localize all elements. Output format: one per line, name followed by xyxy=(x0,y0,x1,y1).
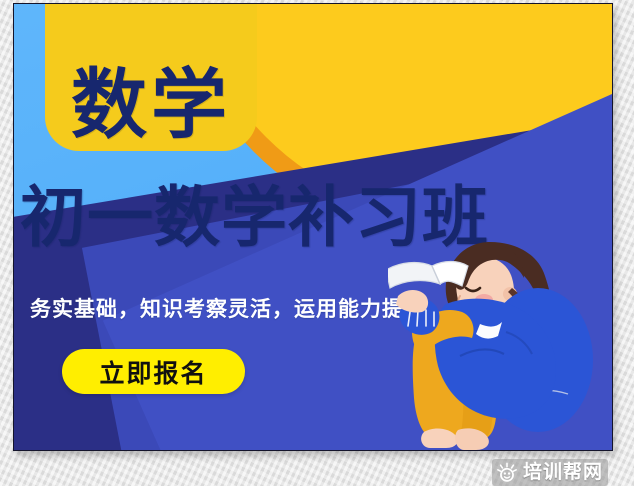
poster-subtitle: 务实基础，知识考察灵活，运用能力提升 xyxy=(30,293,426,323)
enroll-now-button[interactable]: 立即报名 xyxy=(62,349,245,394)
poster-outer-frame: 数学 初一数学补习班 务实基础，知识考察灵活，运用能力提升 立即报名 xyxy=(0,0,634,486)
subject-badge-label: 数学 xyxy=(71,67,231,143)
watermark-label: 培训帮网 xyxy=(523,463,603,482)
seated-girl-reading-icon xyxy=(388,240,613,451)
sun-face-icon xyxy=(496,462,518,484)
hand xyxy=(396,290,428,313)
enroll-now-button-label: 立即报名 xyxy=(99,354,207,390)
site-watermark: 培训帮网 xyxy=(492,459,608,486)
course-promo-poster: 数学 初一数学补习班 务实基础，知识考察灵活，运用能力提升 立即报名 xyxy=(13,3,613,451)
subject-badge: 数学 xyxy=(45,3,257,151)
